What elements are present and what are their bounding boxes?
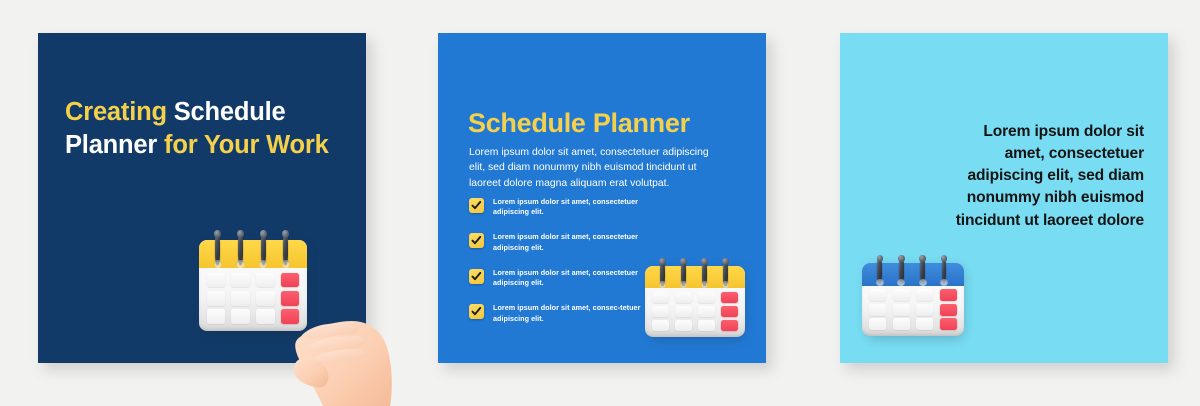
calendar-yellow-icon xyxy=(645,259,745,337)
calendar-ring-icon xyxy=(721,259,730,286)
content-card-paragraph: Lorem ipsum dolor sit amet, consectetuer… xyxy=(469,145,727,191)
content-card[interactable]: Schedule Planner Lorem ipsum dolor sit a… xyxy=(438,33,766,363)
calendar-cell-highlight xyxy=(940,289,957,301)
calendar-blue-icon xyxy=(862,256,964,336)
check-icon[interactable] xyxy=(469,304,484,319)
calendar-cell xyxy=(231,291,249,306)
list-item-label: Lorem ipsum dolor sit amet, consectetuer… xyxy=(493,197,673,218)
calendar-cell xyxy=(698,306,715,317)
calendar-cell xyxy=(256,309,274,324)
pointing-hand-icon xyxy=(284,291,409,406)
calendar-ring-icon xyxy=(258,231,268,265)
calendar-cell xyxy=(893,318,910,330)
calendar-cell xyxy=(256,291,274,306)
content-card-title: Schedule Planner xyxy=(468,108,690,139)
calendar-cell xyxy=(893,304,910,316)
calendar-cell xyxy=(916,304,933,316)
poster-stage: Creating Schedule Planner for Your Work xyxy=(0,0,1200,400)
calendar-cell xyxy=(675,292,692,303)
content-card-clip: Schedule Planner Lorem ipsum dolor sit a… xyxy=(438,33,766,363)
calendar-ring-icon xyxy=(875,256,884,283)
quote-card[interactable]: Lorem ipsum dolor sit amet, consectetuer… xyxy=(840,33,1168,363)
list-item[interactable]: Lorem ipsum dolor sit amet, consectetuer… xyxy=(469,232,737,253)
check-icon[interactable] xyxy=(469,198,484,213)
calendar-grid xyxy=(869,289,957,330)
calendar-cell-highlight xyxy=(281,273,299,288)
calendar-cell xyxy=(256,273,274,288)
calendar-cell xyxy=(916,318,933,330)
calendar-cell xyxy=(698,292,715,303)
calendar-ring-icon xyxy=(213,231,223,265)
calendar-cell-highlight xyxy=(721,320,738,331)
calendar-ring-icon xyxy=(897,256,906,283)
calendar-cell xyxy=(231,273,249,288)
calendar-grid xyxy=(652,292,738,332)
headline-segment-3: for Your Work xyxy=(164,131,329,159)
calendar-cell xyxy=(675,306,692,317)
calendar-ring-icon xyxy=(700,259,709,286)
calendar-cell xyxy=(869,304,886,316)
calendar-cell-highlight xyxy=(940,318,957,330)
list-item[interactable]: Lorem ipsum dolor sit amet, consectetuer… xyxy=(469,197,737,218)
calendar-cell xyxy=(231,309,249,324)
calendar-cell xyxy=(207,309,225,324)
calendar-ring-icon xyxy=(940,256,949,283)
calendar-cell xyxy=(207,291,225,306)
list-item-label: Lorem ipsum dolor sit amet, consectetuer… xyxy=(493,232,673,253)
check-icon[interactable] xyxy=(469,233,484,248)
check-icon[interactable] xyxy=(469,269,484,284)
calendar-ring-icon xyxy=(236,231,246,265)
calendar-cell xyxy=(893,289,910,301)
page-title: Creating Schedule Planner for Your Work xyxy=(65,96,333,162)
calendar-ring-icon xyxy=(679,259,688,286)
calendar-ring-icon xyxy=(658,259,667,286)
calendar-cell xyxy=(869,318,886,330)
calendar-cell xyxy=(916,289,933,301)
calendar-cell-highlight xyxy=(940,304,957,316)
calendar-cell xyxy=(652,320,669,331)
calendar-cell xyxy=(869,289,886,301)
headline-segment-1: Creating xyxy=(65,98,174,126)
calendar-ring-icon xyxy=(918,256,927,283)
calendar-cell xyxy=(652,306,669,317)
cover-card[interactable]: Creating Schedule Planner for Your Work xyxy=(38,33,366,363)
quote-card-paragraph: Lorem ipsum dolor sit amet, consectetuer… xyxy=(952,121,1144,232)
quote-card-clip: Lorem ipsum dolor sit amet, consectetuer… xyxy=(840,33,1168,363)
calendar-cell xyxy=(698,320,715,331)
calendar-cell xyxy=(675,320,692,331)
calendar-cell xyxy=(652,292,669,303)
calendar-cell-highlight xyxy=(721,306,738,317)
calendar-cell-highlight xyxy=(721,292,738,303)
calendar-cell xyxy=(207,273,225,288)
calendar-ring-icon xyxy=(281,231,291,265)
